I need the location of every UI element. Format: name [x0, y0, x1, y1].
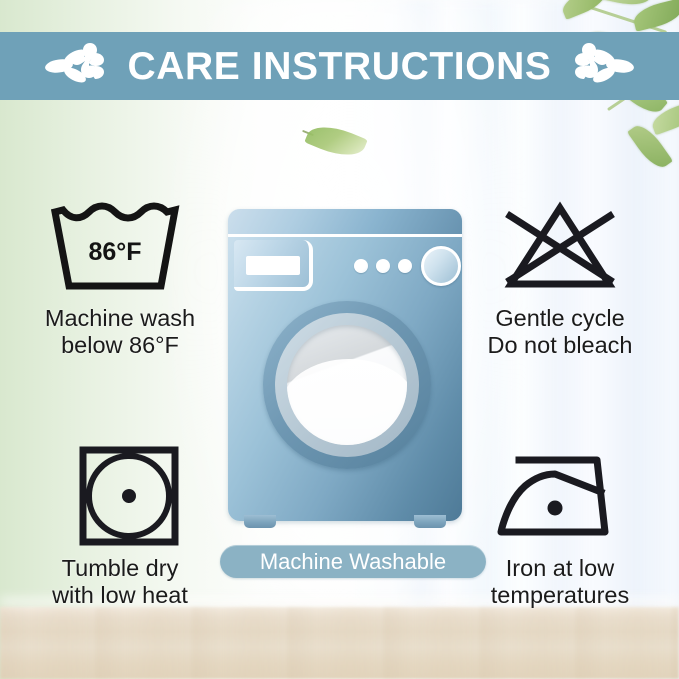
page-title: CARE INSTRUCTIONS [127, 47, 551, 86]
status-badge: Machine Washable [220, 545, 486, 578]
instruction-gentle-cycle-no-bleach: Gentle cycle Do not bleach [452, 196, 668, 360]
header-banner: CARE INSTRUCTIONS [0, 32, 679, 100]
fleur-de-lis-icon-left [45, 43, 117, 89]
tumble-dry-low-icon [14, 446, 226, 546]
care-instructions-poster: CARE INSTRUCTIONS [0, 0, 679, 679]
washer-control-panel [228, 209, 462, 237]
instruction-caption: Machine wash below 86°F [14, 305, 226, 360]
washer-indicator-dot-1 [354, 259, 368, 273]
washer-door-ring [275, 313, 419, 457]
iron-low-temperature-icon [452, 446, 668, 546]
wooden-table-grain [0, 607, 679, 679]
instruction-iron-low: Iron at low temperatures [452, 446, 668, 610]
wash-temperature-value: 86°F [88, 238, 141, 266]
washer-detergent-drawer [234, 240, 313, 291]
instruction-caption: Gentle cycle Do not bleach [452, 305, 668, 360]
washer-indicator-dot-2 [376, 259, 390, 273]
triangle-crossed-no-bleach-icon [452, 196, 668, 296]
washer-indicator-dot-3 [398, 259, 412, 273]
fleur-de-lis-icon-right [562, 43, 634, 89]
status-badge-label: Machine Washable [260, 551, 446, 573]
instruction-caption: Tumble dry with low heat [14, 555, 226, 610]
washer-door-glare [287, 359, 407, 445]
instruction-tumble-dry: Tumble dry with low heat [14, 446, 226, 610]
washer-foot-right [414, 515, 446, 528]
instruction-machine-wash: 86°F Machine wash below 86°F [14, 196, 226, 360]
washer-door-glass [287, 325, 407, 445]
instruction-caption: Iron at low temperatures [452, 555, 668, 610]
wash-tub-icon: 86°F [14, 196, 226, 296]
washer-door [263, 301, 431, 469]
washer-foot-left [244, 515, 276, 528]
washing-machine-icon [228, 209, 462, 529]
washer-drawer-slot [246, 256, 300, 275]
